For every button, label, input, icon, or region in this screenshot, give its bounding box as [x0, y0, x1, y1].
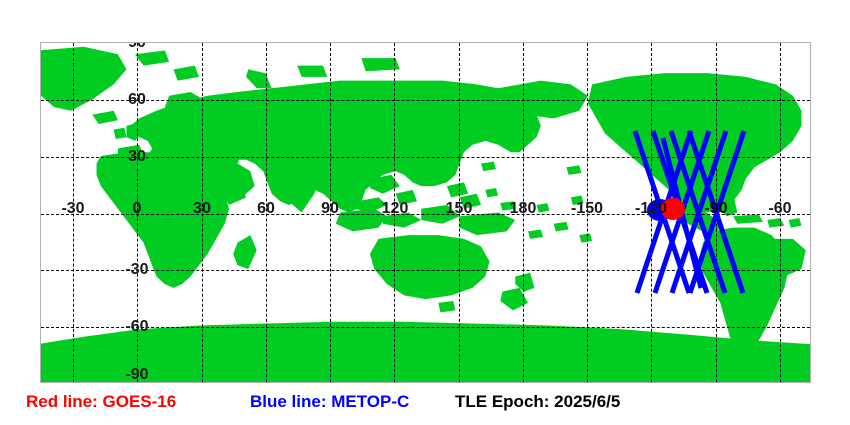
world-map: -30 0 30 60 90 120 150 180 -150 -120 -90… — [40, 42, 811, 383]
lat-label--90: -90 — [125, 366, 148, 383]
gridline-lat — [41, 327, 810, 328]
lon-label-180: 180 — [510, 200, 537, 218]
lon-label--150: -150 — [571, 200, 603, 218]
screenshot-root: -30 0 30 60 90 120 150 180 -150 -120 -90… — [0, 0, 850, 425]
legend-blue-line-metopc: Blue line: METOP-C — [250, 392, 409, 412]
lon-label-150: 150 — [446, 200, 473, 218]
gridline-lat — [41, 157, 810, 158]
gridline-lat — [41, 214, 810, 215]
lat-label-90: 90 — [128, 42, 146, 52]
lat-label-0: 0 — [133, 200, 142, 218]
lon-label--60: -60 — [768, 200, 791, 218]
lat-label--30: -30 — [125, 261, 148, 279]
gridline-lat — [41, 270, 810, 271]
legend-red-line-goes16: Red line: GOES-16 — [26, 392, 176, 412]
lon-label--120: -120 — [635, 200, 667, 218]
legend-tle-epoch: TLE Epoch: 2025/6/5 — [455, 392, 620, 412]
lon-label-30: 30 — [193, 200, 211, 218]
legend: Red line: GOES-16 Blue line: METOP-C TLE… — [0, 392, 850, 420]
lat-label-30: 30 — [128, 148, 146, 166]
map-canvas — [41, 43, 810, 382]
lat-label-60: 60 — [128, 91, 146, 109]
gridline-lat — [41, 100, 810, 101]
lat-label--60: -60 — [125, 318, 148, 336]
lon-label-120: 120 — [382, 200, 409, 218]
lon-label--90: -90 — [704, 200, 727, 218]
lon-label-60: 60 — [257, 200, 275, 218]
lon-label--30: -30 — [61, 200, 84, 218]
lon-label-90: 90 — [321, 200, 339, 218]
land-masses-layer — [41, 43, 810, 382]
